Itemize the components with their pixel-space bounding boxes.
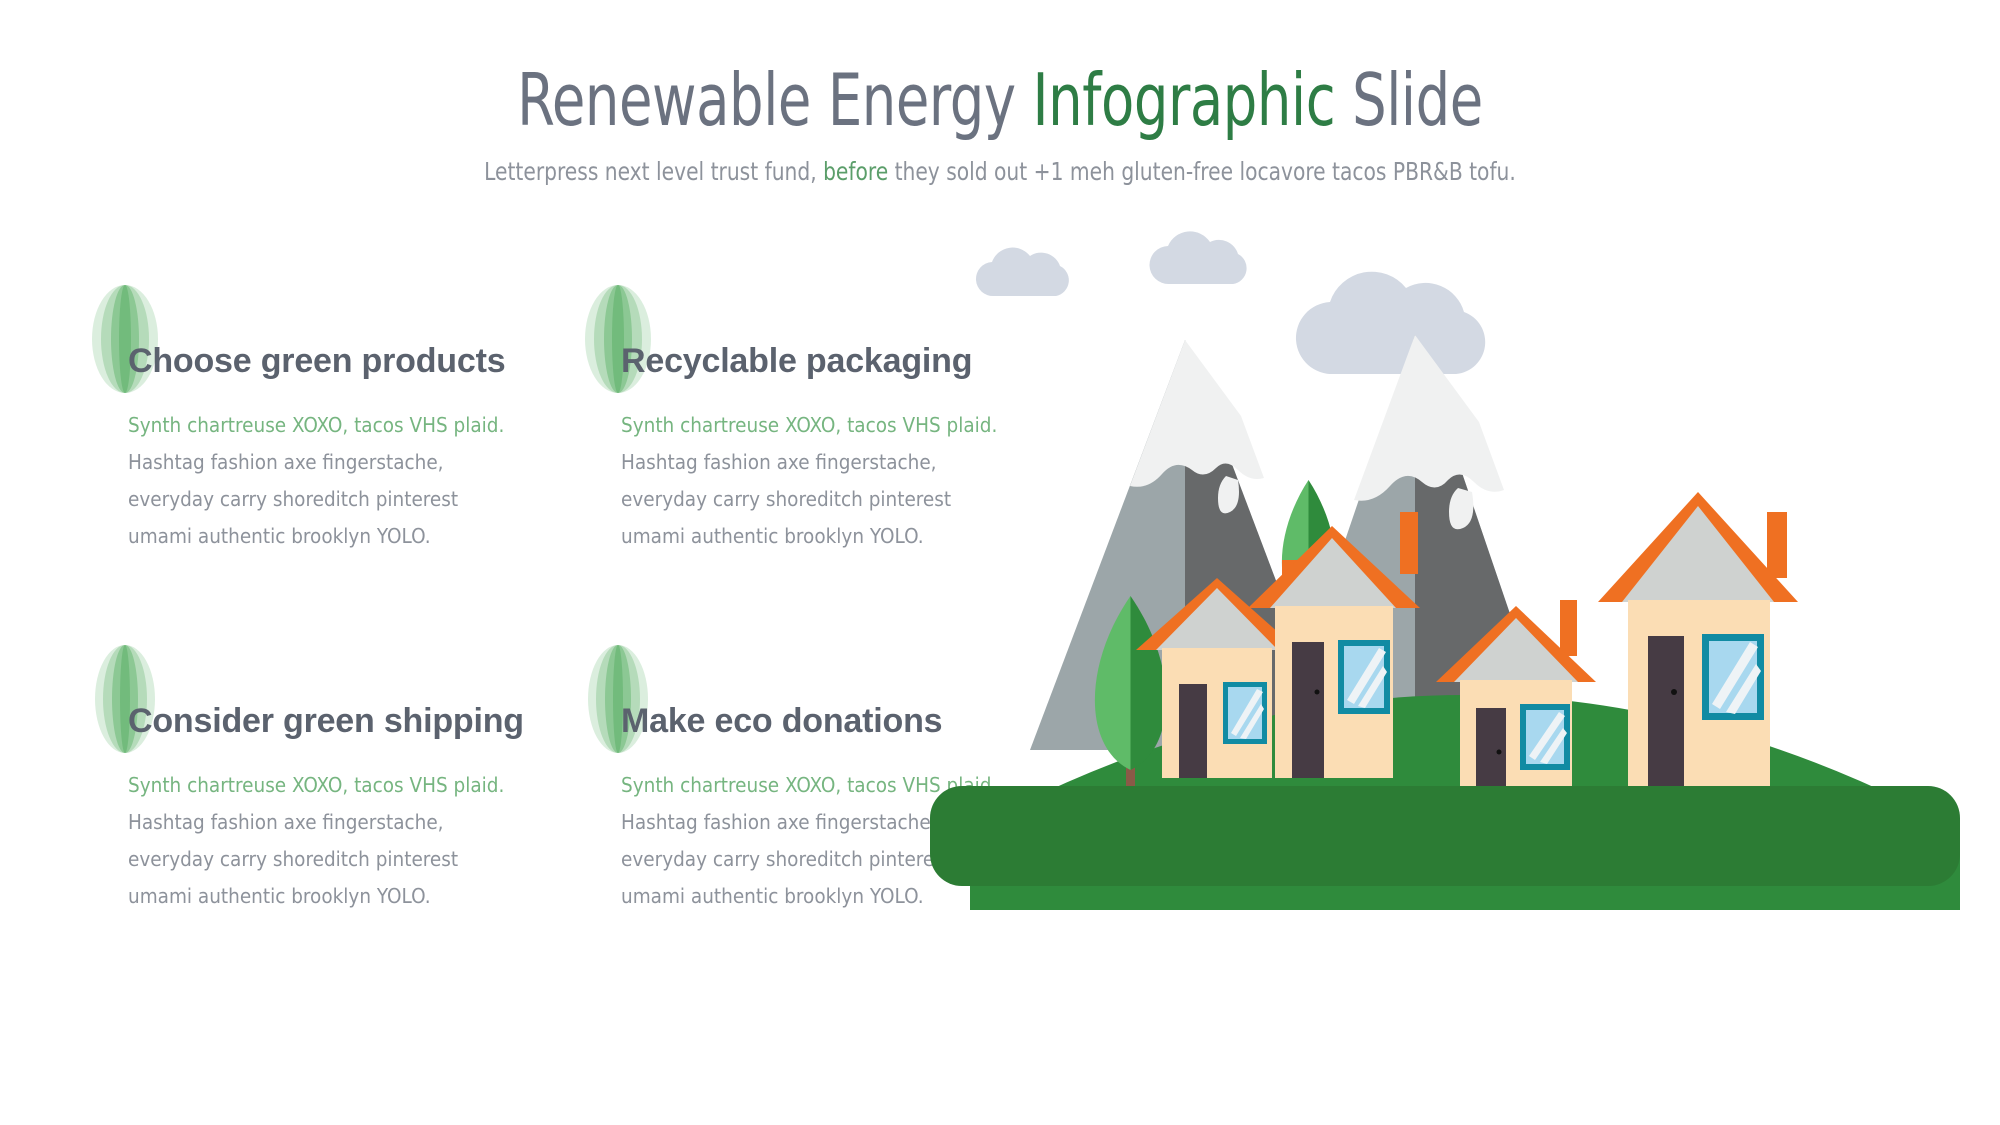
feature-line-2: Hashtag fashion axe fingerstache, (128, 444, 562, 481)
feature-title: Choose green products (128, 342, 505, 381)
eco-village-illustration (930, 230, 2000, 1060)
title-part-2: Slide (1335, 58, 1483, 142)
title-part-1: Renewable Energy (517, 58, 1032, 142)
subtitle-part-1: Letterpress next level trust fund, (484, 157, 823, 186)
feature-block-choose-green-products: Choose green products Synth chartreuse X… (92, 285, 562, 555)
slide-header: Renewable Energy Infographic Slide Lette… (0, 60, 2000, 186)
ground-base (930, 786, 1960, 886)
feature-title: Make eco donations (621, 702, 942, 741)
house-4 (1598, 492, 1798, 790)
feature-line-4: umami authentic brooklyn YOLO. (128, 878, 562, 915)
feature-line-4: umami authentic brooklyn YOLO. (128, 518, 562, 555)
cloud-small-mid (1149, 231, 1246, 284)
page-title: Renewable Energy Infographic Slide (160, 60, 1840, 141)
cloud-large-right (1296, 272, 1485, 374)
feature-header: Choose green products (92, 285, 562, 395)
feature-header: Consider green shipping (92, 645, 562, 755)
feature-line-3: everyday carry shoreditch pinterest (128, 481, 562, 518)
feature-line-3: everyday carry shoreditch pinterest (128, 841, 562, 878)
feature-title: Recyclable packaging (621, 342, 972, 381)
subtitle-accent-word: before (823, 157, 888, 186)
feature-lead-line: Synth chartreuse XOXO, tacos VHS plaid. (128, 407, 562, 444)
page-subtitle: Letterpress next level trust fund, befor… (100, 157, 1900, 186)
title-accent-word: Infographic (1033, 58, 1336, 142)
feature-title: Consider green shipping (128, 702, 524, 741)
feature-body: Synth chartreuse XOXO, tacos VHS plaid. … (128, 767, 562, 915)
subtitle-part-2: they sold out +1 meh gluten-free locavor… (888, 157, 1516, 186)
feature-block-consider-green-shipping: Consider green shipping Synth chartreuse… (92, 645, 562, 915)
feature-line-2: Hashtag fashion axe fingerstache, (128, 804, 562, 841)
feature-lead-line: Synth chartreuse XOXO, tacos VHS plaid. (128, 767, 562, 804)
feature-body: Synth chartreuse XOXO, tacos VHS plaid. … (128, 407, 562, 555)
cloud-small-left (976, 248, 1069, 296)
